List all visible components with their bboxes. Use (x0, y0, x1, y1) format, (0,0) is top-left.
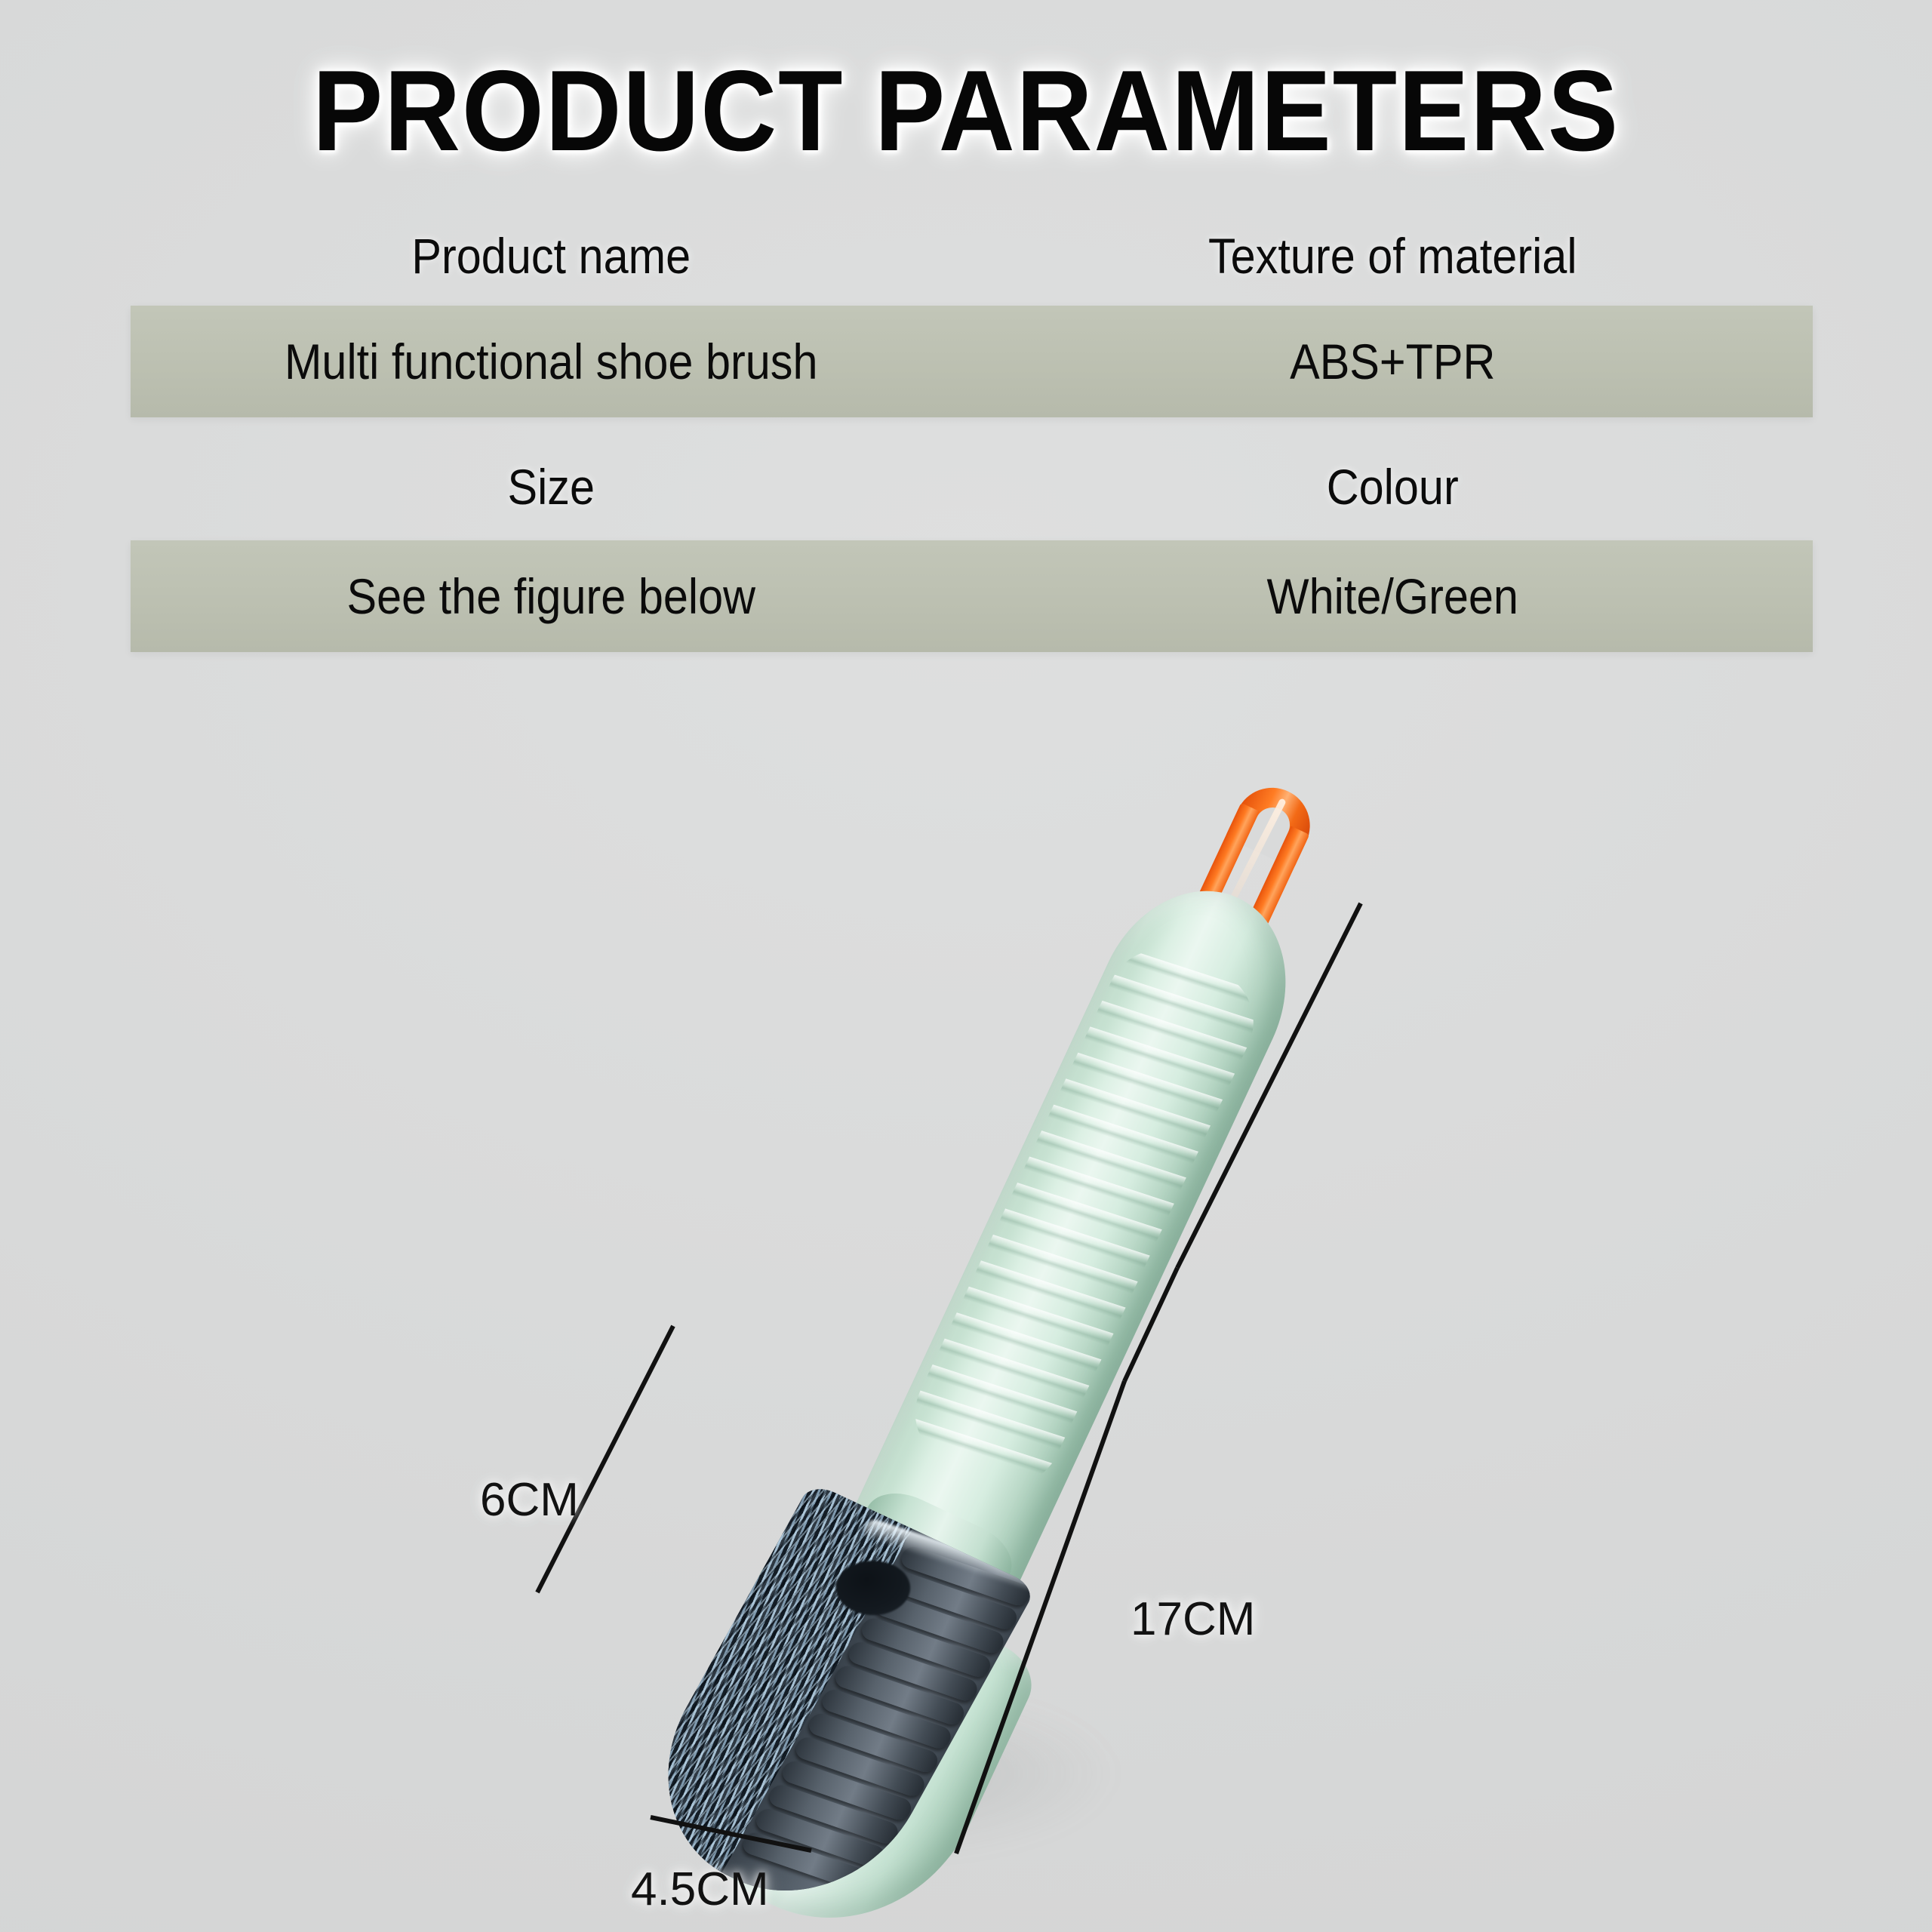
dimension-label-4-5cm: 4.5CM (631, 1863, 769, 1916)
product-parameters-table: Product name Texture of material Multi f… (0, 0, 1932, 679)
header-product-name: Product name (173, 231, 930, 281)
table-value-row-2: See the figure below White/Green (131, 540, 1813, 652)
value-texture-of-material: ABS+TPR (1014, 337, 1770, 386)
page-background: PRODUCT PARAMETERS Product name Texture … (0, 0, 1932, 1932)
value-colour: White/Green (1014, 571, 1770, 621)
dimension-label-6cm: 6CM (480, 1473, 579, 1527)
table-header-row-2: Size Colour (131, 462, 1813, 512)
header-size: Size (173, 462, 930, 512)
header-texture-of-material: Texture of material (1014, 231, 1770, 281)
dimension-label-17cm: 17CM (1131, 1592, 1255, 1646)
value-size: See the figure below (173, 571, 930, 621)
value-product-name: Multi functional shoe brush (173, 337, 930, 386)
table-value-row-1: Multi functional shoe brush ABS+TPR (131, 306, 1813, 417)
header-colour: Colour (1014, 462, 1770, 512)
table-header-row-1: Product name Texture of material (131, 231, 1813, 281)
